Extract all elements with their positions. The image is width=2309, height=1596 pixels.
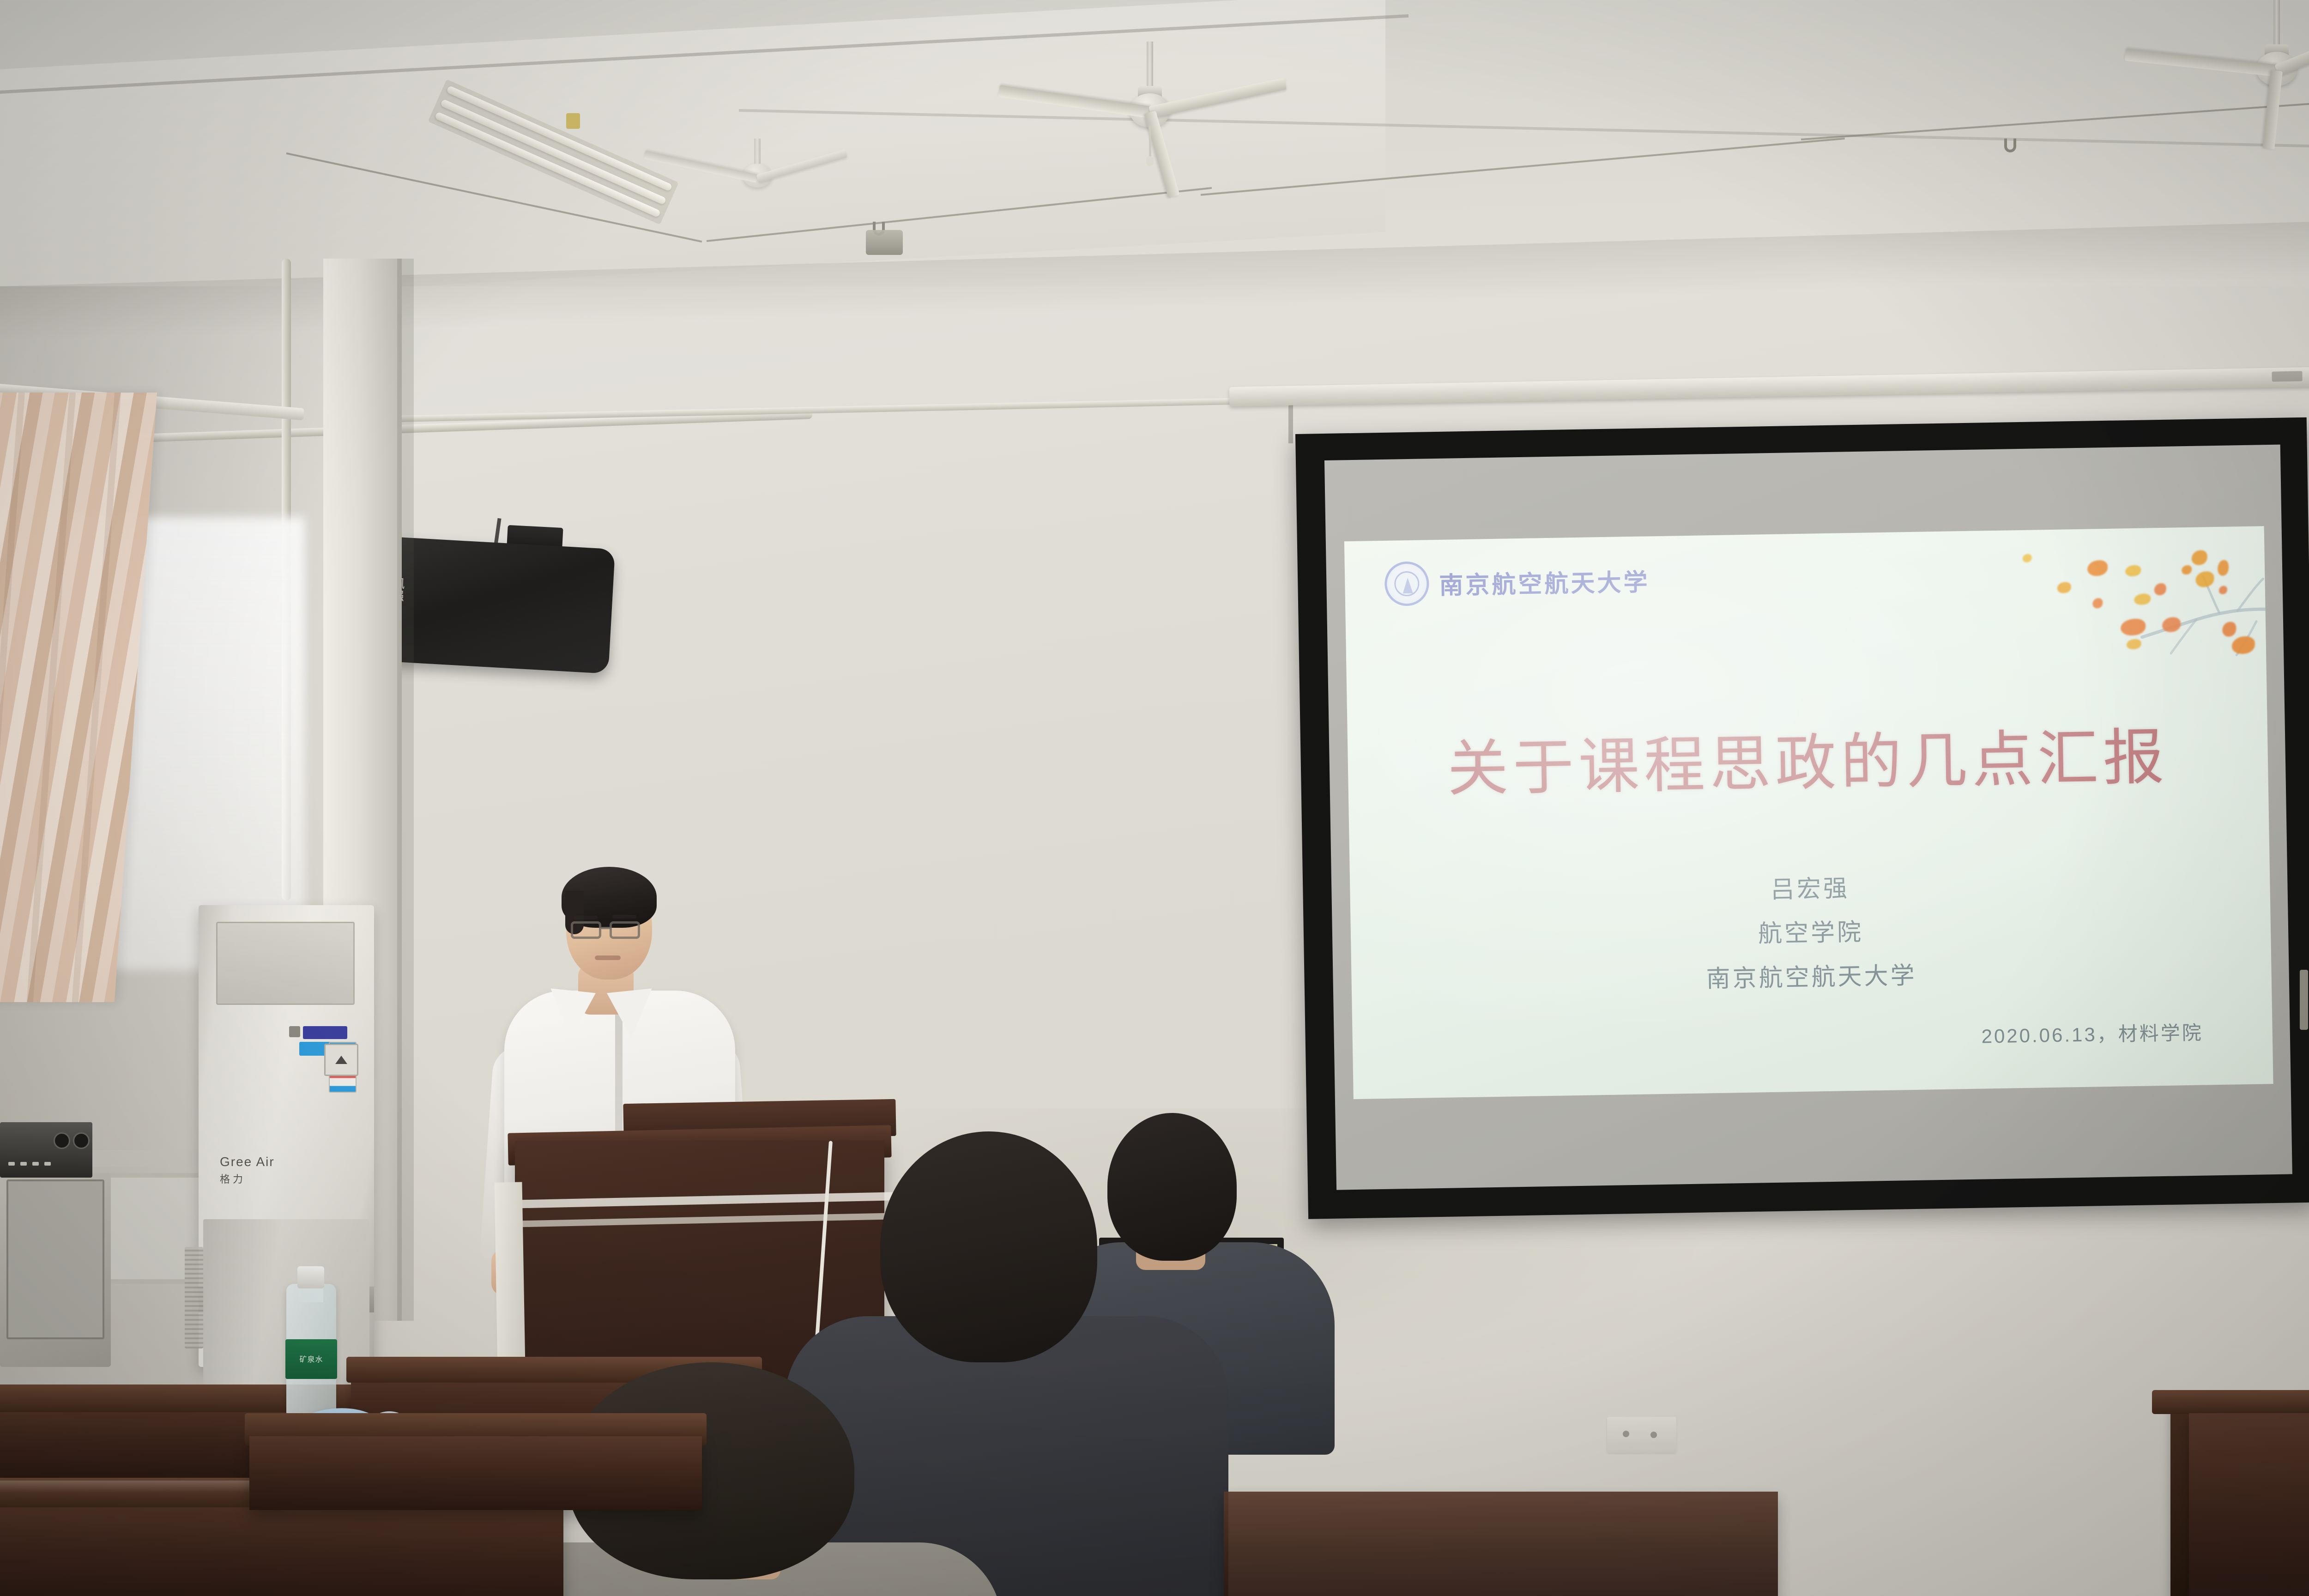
wall-outlet[interactable] xyxy=(1607,1417,1676,1453)
presenter-eyebrow xyxy=(574,916,598,919)
slide-byline: 吕宏强 航空学院 南京航空航天大学 xyxy=(1350,858,2272,1009)
lecture-hall-photo: 讯强 Gree Air 格力 xyxy=(0,0,2309,1596)
ac-panel-release-button[interactable] xyxy=(324,1044,358,1076)
blossom-petal xyxy=(2092,598,2103,608)
projection-screen: 南京航空航天大学 关于课程思政的几点汇报 吕宏强 航空学院 南京航空航天 xyxy=(1295,417,2309,1219)
blossom-petal xyxy=(2057,582,2071,593)
curtain-fold xyxy=(0,393,25,1002)
amplifier-knob[interactable] xyxy=(73,1132,90,1149)
curtain-fold xyxy=(72,393,121,1002)
screen-right-hanger xyxy=(2300,970,2308,1030)
blossom-branch-decoration xyxy=(1978,531,2267,688)
projection-screen-surface: 南京航空航天大学 关于课程思政的几点汇报 吕宏强 航空学院 南京航空航天 xyxy=(1324,445,2292,1190)
blossom-petal xyxy=(2125,565,2141,577)
fan-downrod xyxy=(754,139,761,166)
desk-right-top xyxy=(2152,1390,2309,1414)
blossom-petal xyxy=(2162,617,2181,632)
outlet-hole xyxy=(1650,1432,1657,1438)
screen-glare xyxy=(1344,526,2273,1099)
slide-university-logo: 南京航空航天大学 xyxy=(1384,557,1650,606)
blossom-petal xyxy=(2191,550,2207,565)
amplifier-led xyxy=(20,1162,27,1166)
blossom-petal xyxy=(2232,636,2255,654)
ac-sticker-gray xyxy=(289,1026,300,1037)
presenter-glasses-bridge xyxy=(601,927,610,929)
screen-left-hanger xyxy=(1288,402,1293,443)
roller-endcap xyxy=(2272,371,2302,381)
water-bottle-cap[interactable] xyxy=(297,1266,324,1288)
amplifier-led xyxy=(32,1162,39,1166)
crt-monitor xyxy=(0,1173,111,1367)
blossom-petal xyxy=(2195,571,2214,587)
fan-pull-knob[interactable] xyxy=(1146,156,1154,166)
amplifier-led xyxy=(44,1162,51,1166)
fan-blade xyxy=(756,149,847,182)
blossom-petal xyxy=(2023,554,2032,562)
ceiling-fan-left xyxy=(674,139,840,240)
ac-air-grille xyxy=(216,922,355,1005)
amplifier-led xyxy=(8,1162,15,1166)
water-bottle-neck xyxy=(298,1287,323,1302)
ac-side-vent xyxy=(185,1247,203,1348)
ac-brand-text: Gree Air xyxy=(220,1155,275,1169)
ceiling-hook-2 xyxy=(2004,139,2016,152)
ceiling-fan xyxy=(1053,42,1247,180)
water-bottle-label: 矿泉水 xyxy=(285,1339,337,1379)
presenter-glasses-lens xyxy=(571,921,601,939)
blossom-petal xyxy=(2087,560,2108,576)
ac-brand-cn-text: 格力 xyxy=(220,1171,275,1186)
projected-slide: 南京航空航天大学 关于课程思政的几点汇报 吕宏强 航空学院 南京航空航天 xyxy=(1344,526,2273,1099)
blossom-petal xyxy=(2219,586,2227,594)
audio-amplifier[interactable] xyxy=(0,1122,92,1178)
ac-brand-label: Gree Air 格力 xyxy=(220,1155,275,1186)
blossom-petal xyxy=(2134,593,2151,605)
slide-footer-date: 2020.06.13，材料学院 xyxy=(1981,1017,2203,1049)
desk-right xyxy=(2189,1413,2309,1596)
desk-foreground-center xyxy=(1224,1492,1778,1596)
outlet-hole xyxy=(1623,1431,1629,1437)
amplifier-knob[interactable] xyxy=(54,1132,70,1149)
light-endcap xyxy=(566,113,580,129)
university-seal-icon xyxy=(1384,561,1430,606)
crt-monitor-screen xyxy=(6,1179,104,1339)
water-bottle-label-text: 矿泉水 xyxy=(285,1353,337,1364)
branch-svg-icon xyxy=(1978,531,2267,688)
slide-title: 关于课程思政的几点汇报 xyxy=(1347,706,2268,810)
ac-sticker-blue xyxy=(303,1026,347,1039)
ceiling-fan-right xyxy=(2180,0,2309,139)
audience-head xyxy=(880,1131,1097,1362)
blossom-petal xyxy=(2127,639,2141,650)
blossom-petal xyxy=(2218,560,2229,576)
slide-university-name: 南京航空航天大学 xyxy=(1439,562,1650,601)
blossom-petal xyxy=(2121,619,2146,636)
curtain-fold xyxy=(27,393,76,1002)
wall-column-shadow xyxy=(397,259,414,1321)
presenter-mouth xyxy=(595,955,621,960)
blossom-petal xyxy=(2182,565,2192,574)
projector xyxy=(866,230,903,255)
presenter-eyebrow xyxy=(612,915,636,919)
desk-with-bottle xyxy=(249,1436,702,1510)
blossom-petal xyxy=(2154,583,2166,595)
blossom-petal xyxy=(2222,622,2236,636)
presenter-glasses-lens xyxy=(610,921,640,939)
fan-pull-chain[interactable] xyxy=(1149,126,1151,158)
